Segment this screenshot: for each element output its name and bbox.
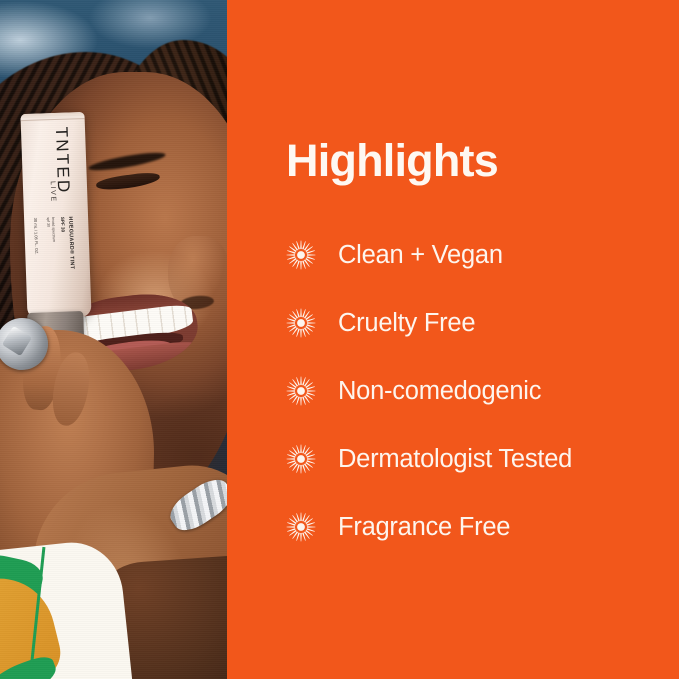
sunburst-icon [286, 444, 316, 474]
highlight-label: Dermatologist Tested [338, 445, 572, 473]
tube-claim-line-1: broad spectrum [51, 217, 56, 242]
sunburst-icon [286, 512, 316, 542]
list-item: Fragrance Free [286, 493, 661, 561]
list-item: Clean + Vegan [286, 221, 661, 289]
sunburst-icon [286, 240, 316, 270]
tube-claim-line-2: spf 30 [46, 217, 50, 227]
product-lifestyle-photo: TNTED LIVE HUEGUARD® TINT SPF 30 broad s… [0, 0, 227, 679]
tube-product-name: HUEGUARD® TINT [67, 216, 75, 269]
product-highlights-card: TNTED LIVE HUEGUARD® TINT SPF 30 broad s… [0, 0, 679, 679]
product-tube: TNTED LIVE HUEGUARD® TINT SPF 30 broad s… [20, 112, 91, 319]
highlights-list: Clean + Vegan [286, 221, 661, 561]
list-item: Dermatologist Tested [286, 425, 661, 493]
list-item: Cruelty Free [286, 289, 661, 357]
tube-volume-label: 30 mL / 1.05 FL. OZ. [33, 218, 39, 255]
highlight-label: Non-comedogenic [338, 377, 541, 405]
list-item: Non-comedogenic [286, 357, 661, 425]
highlights-panel: Highlights [227, 0, 679, 679]
sunburst-icon [286, 308, 316, 338]
tube-spf-label: SPF 30 [60, 217, 66, 232]
sunburst-icon [286, 376, 316, 406]
tube-crimp-seam [20, 112, 84, 121]
highlight-label: Clean + Vegan [338, 241, 503, 269]
page-title: Highlights [286, 138, 661, 183]
tube-brand-prefix: LIVE [49, 181, 57, 203]
highlight-label: Fragrance Free [338, 513, 510, 541]
highlight-label: Cruelty Free [338, 309, 475, 337]
